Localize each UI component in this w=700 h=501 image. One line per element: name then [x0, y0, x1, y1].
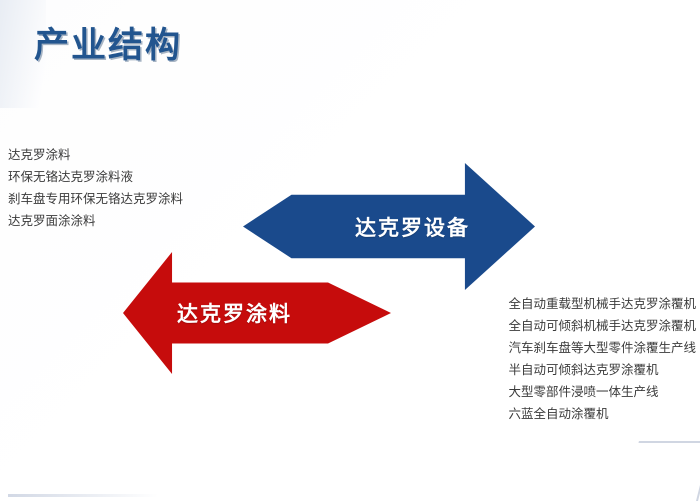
bottom-accent-line [8, 494, 158, 497]
slide-canvas: 产业结构 达克罗涂料 环保无铬达克罗涂料液 刹车盘专用环保无铬达克罗涂料 达克罗… [0, 0, 700, 501]
list-item: 全自动可倾斜机械手达克罗涂覆机 [508, 315, 696, 337]
equipment-product-list: 全自动重载型机械手达克罗涂覆机 全自动可倾斜机械手达克罗涂覆机 汽车刹车盘等大型… [508, 293, 696, 425]
equipment-arrow-right: 达克罗设备 [243, 163, 535, 290]
list-item: 汽车刹车盘等大型零件涂覆生产线 [508, 337, 696, 359]
coatings-arrow-label: 达克罗涂料 [177, 298, 292, 328]
list-item: 达克罗涂料 [8, 144, 183, 166]
list-item: 刹车盘专用环保无铬达克罗涂料 [8, 188, 183, 210]
equipment-arrow-label: 达克罗设备 [355, 212, 470, 242]
corner-chevron-decoration [621, 441, 700, 501]
list-item: 六蓝全自动涂覆机 [508, 403, 696, 425]
list-item: 大型零部件浸喷一体生产线 [508, 381, 696, 403]
list-item: 半自动可倾斜达克罗涂覆机 [508, 359, 696, 381]
page-title: 产业结构 [34, 17, 182, 68]
list-item: 达克罗面涂涂料 [8, 210, 183, 232]
list-item: 全自动重载型机械手达克罗涂覆机 [508, 293, 696, 315]
coatings-arrow-left: 达克罗涂料 [123, 252, 391, 374]
list-item: 环保无铬达克罗涂料液 [8, 166, 183, 188]
coatings-product-list: 达克罗涂料 环保无铬达克罗涂料液 刹车盘专用环保无铬达克罗涂料 达克罗面涂涂料 [8, 144, 183, 232]
